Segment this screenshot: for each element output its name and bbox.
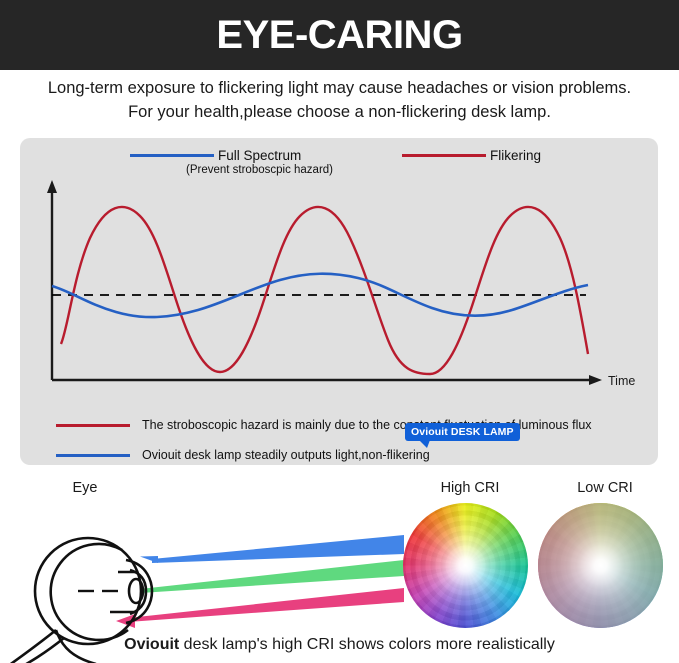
- chart-legend-bottom: The stroboscopic hazard is mainly due to…: [20, 410, 658, 470]
- eye-caring-infographic: EYE-CARING Long-term exposure to flicker…: [0, 0, 679, 663]
- legend-swatch-steady: [56, 454, 130, 457]
- legend-label-full-spectrum: Full Spectrum: [218, 148, 301, 163]
- caption-rest: desk lamp's high CRI shows colors more r…: [179, 636, 555, 653]
- blue-beam-arrow-icon: [140, 556, 158, 563]
- legend-swatch-full-spectrum: [130, 154, 214, 157]
- legend-row-steady: Oviouit desk lamp steadily outputs light…: [20, 440, 658, 470]
- cri-comparison-section: Eye High CRI Low CRI: [0, 470, 679, 663]
- flicker-chart-panel: Full Spectrum (Prevent stroboscpic hazar…: [20, 138, 658, 465]
- caption-brand: Oviouit: [124, 636, 179, 653]
- y-axis-arrow-icon: [47, 180, 57, 193]
- low-cri-color-wheel: [538, 503, 663, 628]
- waveform-svg: Time: [20, 178, 658, 418]
- chart-legend-top: Full Spectrum (Prevent stroboscpic hazar…: [20, 138, 658, 183]
- legend-item-flikering: Flikering: [402, 148, 541, 163]
- legend-text-steady: Oviouit desk lamp steadily outputs light…: [142, 448, 430, 462]
- subtitle-line-1: Long-term exposure to flickering light m…: [0, 76, 679, 100]
- legend-sublabel-full-spectrum: (Prevent stroboscpic hazard): [186, 164, 333, 176]
- flikering-curve: [61, 207, 588, 374]
- legend-swatch-flikering: [402, 154, 486, 157]
- high-cri-color-wheel: [403, 503, 528, 628]
- header-bar: EYE-CARING: [0, 0, 679, 70]
- desk-lamp-badge: Oviouit DESK LAMP: [405, 423, 520, 441]
- legend-label-flikering: Flikering: [490, 148, 541, 163]
- blue-beam: [152, 535, 404, 563]
- legend-row-stroboscopic: The stroboscopic hazard is mainly due to…: [20, 410, 658, 440]
- pink-beam: [128, 588, 404, 622]
- bottom-caption: Oviouit desk lamp's high CRI shows color…: [0, 636, 679, 654]
- eye-internal-marks: [78, 572, 136, 612]
- legend-item-full-spectrum: Full Spectrum: [130, 148, 301, 163]
- legend-text-stroboscopic: The stroboscopic hazard is mainly due to…: [142, 418, 592, 432]
- x-axis-label: Time: [608, 374, 635, 388]
- green-beam: [140, 560, 404, 593]
- subtitle-block: Long-term exposure to flickering light m…: [0, 76, 679, 124]
- waveform-plot: Time: [20, 178, 658, 418]
- subtitle-line-2: For your health,please choose a non-flic…: [0, 100, 679, 124]
- wheel-center-glow-low: [538, 503, 663, 628]
- page-title: EYE-CARING: [216, 13, 462, 58]
- legend-swatch-stroboscopic: [56, 424, 130, 427]
- x-axis-arrow-icon: [589, 375, 602, 385]
- wheel-center-glow-high: [403, 503, 528, 628]
